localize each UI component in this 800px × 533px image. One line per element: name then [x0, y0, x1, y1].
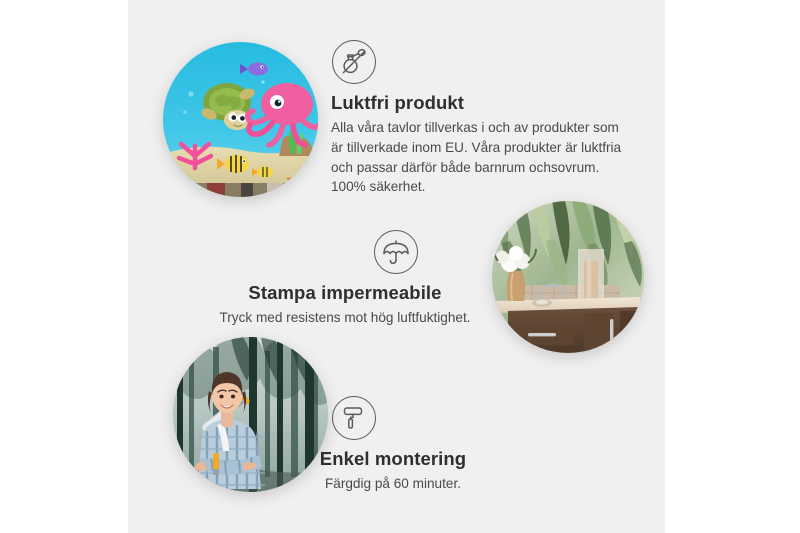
- feature-description: Tryck med resistens mot hög luftfuktighe…: [205, 308, 485, 328]
- bathroom-botanical-mural-image: [492, 201, 644, 353]
- feature-title: Enkel montering: [268, 448, 518, 470]
- umbrella-icon: [374, 230, 418, 274]
- no-odour-icon: [332, 40, 376, 84]
- feature-title: Luktfri produkt: [331, 92, 631, 114]
- feature-easy-mounting: Enkel montering Färgdig på 60 minuter.: [268, 396, 518, 494]
- feature-waterproof: Stampa impermeabile Tryck med resistens …: [205, 230, 485, 328]
- feature-title: Stampa impermeabile: [205, 282, 485, 304]
- underwater-cartoon-mural-image: [163, 42, 318, 197]
- feature-description: Färgdig på 60 minuter.: [268, 474, 518, 494]
- promo-banner: Luktfri produkt Alla våra tavlor tillver…: [0, 0, 800, 533]
- paint-roller-icon: [332, 396, 376, 440]
- feature-no-odour: Luktfri produkt Alla våra tavlor tillver…: [331, 40, 631, 197]
- feature-description: Alla våra tavlor tillverkas i och av pro…: [331, 118, 631, 197]
